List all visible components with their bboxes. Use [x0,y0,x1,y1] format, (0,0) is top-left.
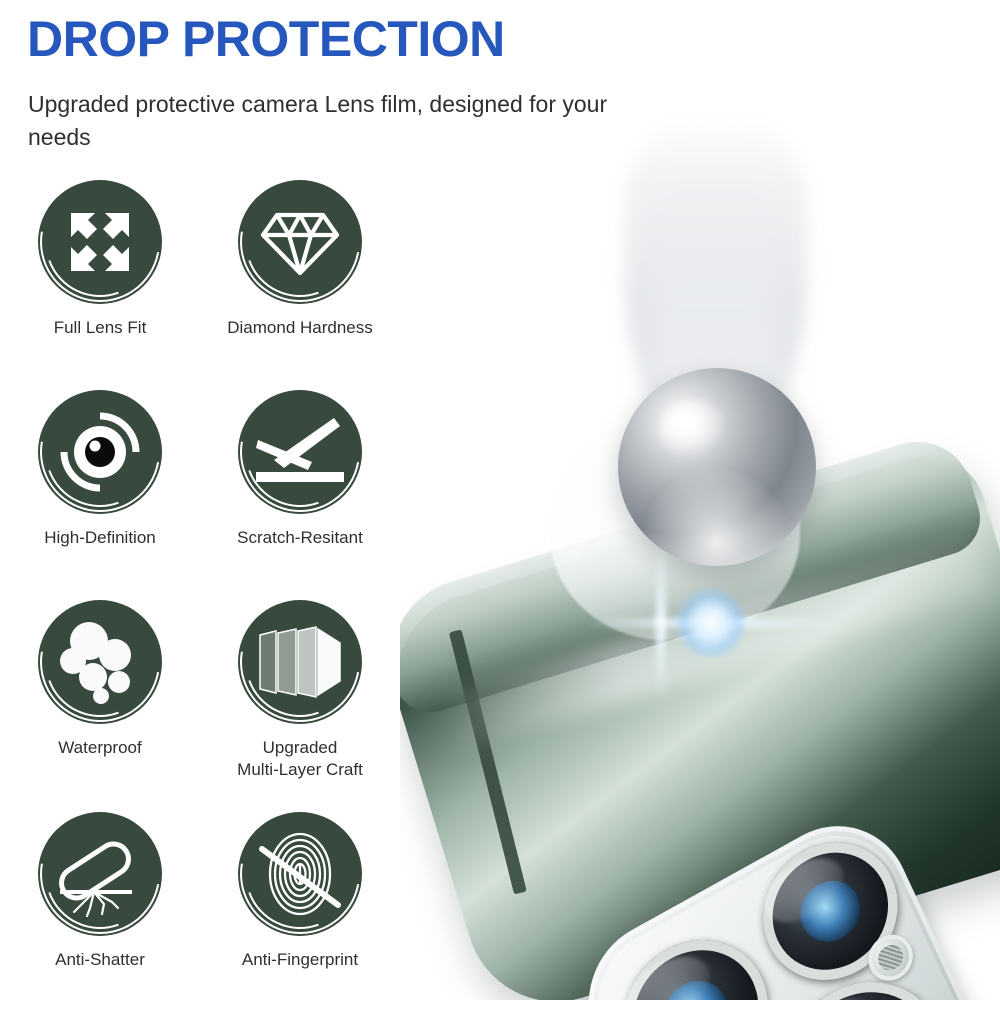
diamond-icon [238,180,362,304]
fingerprint-slash-icon [238,812,362,936]
knife-scratch-icon [238,390,362,514]
feature-row: Full Lens Fit [0,180,400,390]
layered-sheets-icon [238,600,362,724]
feature-item-diamond-hardness: Diamond Hardness [200,180,400,390]
feature-label: Scratch-Resitant [237,527,363,549]
feature-label: Diamond Hardness [227,317,373,339]
feature-item-anti-shatter: Anti-Shatter [0,812,200,1022]
feature-label: Anti-Shatter [55,949,145,971]
page-title: DROP PROTECTION [27,13,505,66]
phone-crack-icon [38,812,162,936]
feature-icon-badge [238,600,362,724]
steel-ball [618,368,816,566]
feature-row: Waterproof [0,600,400,812]
feature-icon-badge [38,390,162,514]
feature-row: High-Definition Scratch [0,390,400,600]
feature-icon-badge [38,180,162,304]
feature-icon-badge [238,390,362,514]
feature-icon-badge [238,812,362,936]
feature-label: High-Definition [44,527,156,549]
feature-item-scratch-resistant: Scratch-Resitant [200,390,400,600]
feature-label: Upgraded Multi-Layer Craft [237,737,363,782]
eye-icon [38,390,162,514]
feature-grid: Full Lens Fit [0,180,400,1022]
feature-row: Anti-Shatter [0,812,400,1022]
feature-item-multi-layer-craft: Upgraded Multi-Layer Craft [200,600,400,812]
expand-arrows-icon [38,180,162,304]
feature-label: Full Lens Fit [54,317,147,339]
feature-item-high-definition: High-Definition [0,390,200,600]
product-photo [400,110,1000,1000]
feature-item-full-lens-fit: Full Lens Fit [0,180,200,390]
feature-item-anti-fingerprint: Anti-Fingerprint [200,812,400,1022]
water-droplets-icon [38,600,162,724]
feature-icon-badge [38,600,162,724]
feature-item-waterproof: Waterproof [0,600,200,812]
product-feature-page: DROP PROTECTION Upgraded protective came… [0,0,1000,1000]
feature-label: Waterproof [58,737,141,759]
feature-icon-badge [238,180,362,304]
feature-icon-badge [38,812,162,936]
feature-label: Anti-Fingerprint [242,949,358,971]
